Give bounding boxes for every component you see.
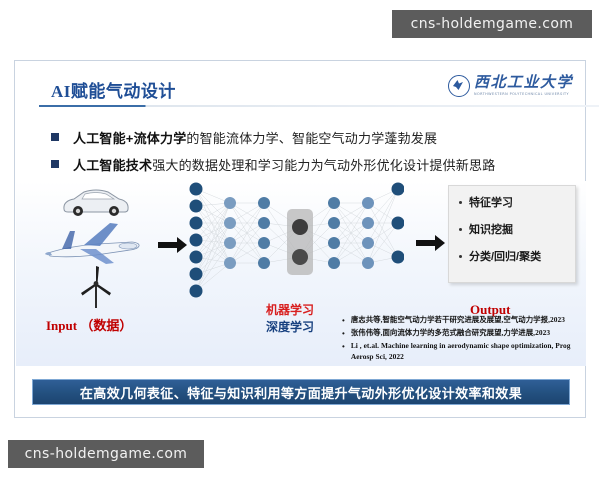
bullet-dot-icon: • (342, 341, 345, 352)
reference-text: 张伟伟等,面向流体力学的多范式融合研究展望,力学进展,2023 (351, 328, 550, 339)
watermark-bottom: cns-holdemgame.com (8, 440, 204, 468)
output-card: 特征学习 知识挖掘 分类/回归/聚类 (448, 185, 576, 283)
reference-item: • 张伟伟等,面向流体力学的多范式融合研究展望,力学进展,2023 (342, 328, 594, 339)
reference-item: • 唐志共等,智能空气动力学若干研究进展及展望,空气动力学报,2023 (342, 315, 594, 326)
bullet-dot-icon (459, 201, 462, 204)
bullet-item-1: 人工智能+流体力学的智能流体力学、智能空气动力学蓬勃发展 (51, 128, 437, 147)
university-logo: 西北工业大学 NORTHWESTERN POLYTECHNICAL UNIVER… (448, 75, 573, 97)
university-name-cn: 西北工业大学 (474, 76, 573, 91)
page-title: AI赋能气动设计 (51, 77, 176, 102)
slide-frame: AI赋能气动设计 西北工业大学 NORTHWESTERN POLYTECHNIC… (14, 60, 586, 418)
bullet-strong-1: 人工智能+流体力学 (73, 131, 186, 146)
airplane-icon (40, 219, 144, 271)
network-label-deep-learning: 深度学习 (266, 318, 314, 335)
conclusion-banner-text: 在高效几何表征、特征与知识利用等方面提升气动外形优化设计效率和效果 (80, 383, 522, 402)
wind-turbine-icon (76, 265, 116, 309)
neural-network-svg (184, 181, 404, 306)
bullet-rest-1: 的智能流体力学、智能空气动力学蓬勃发展 (186, 131, 437, 146)
title-underline (39, 105, 599, 107)
reference-list: • 唐志共等,智能空气动力学若干研究进展及展望,空气动力学报,2023 • 张伟… (342, 315, 594, 364)
bullet-dot-icon (459, 255, 462, 258)
bullet-item-2: 人工智能技术强大的数据处理和学习能力为气动外形优化设计提供新思路 (51, 155, 495, 174)
bullet-text-2: 人工智能技术强大的数据处理和学习能力为气动外形优化设计提供新思路 (73, 155, 495, 174)
bullet-square-icon (51, 133, 59, 141)
output-item-2: 知识挖掘 (459, 221, 575, 237)
arrow-network-to-output-icon (416, 234, 446, 252)
conclusion-banner: 在高效几何表征、特征与知识利用等方面提升气动外形优化设计效率和效果 (32, 379, 570, 405)
car-icon (58, 187, 132, 217)
reference-text: Li , et.al. Machine learning in aerodyna… (351, 341, 594, 362)
output-item-1: 特征学习 (459, 194, 575, 210)
university-logo-text: 西北工业大学 NORTHWESTERN POLYTECHNICAL UNIVER… (474, 76, 573, 96)
bullet-text-1: 人工智能+流体力学的智能流体力学、智能空气动力学蓬勃发展 (73, 128, 437, 147)
input-label: Input （数据） (46, 315, 132, 334)
input-icon-group: Input （数据） (38, 187, 150, 307)
output-item-label: 分类/回归/聚类 (469, 248, 541, 264)
bullet-strong-2: 人工智能技术 (73, 158, 152, 173)
university-name-en: NORTHWESTERN POLYTECHNICAL UNIVERSITY (474, 93, 573, 96)
bullet-square-icon (51, 160, 59, 168)
bullet-dot-icon (459, 228, 462, 231)
reference-item: • Li , et.al. Machine learning in aerody… (342, 341, 594, 362)
bullet-dot-icon: • (342, 328, 345, 339)
neural-network-diagram (184, 181, 404, 306)
reference-text: 唐志共等,智能空气动力学若干研究进展及展望,空气动力学报,2023 (351, 315, 565, 326)
slide-canvas: cns-holdemgame.com AI赋能气动设计 西北工业大学 NORTH… (0, 0, 600, 480)
output-item-3: 分类/回归/聚类 (459, 248, 575, 264)
page-title-text: AI赋能气动设计 (51, 77, 176, 102)
output-item-label: 知识挖掘 (469, 221, 513, 237)
university-seal-icon (448, 75, 470, 97)
bullet-dot-icon: • (342, 315, 345, 326)
watermark-top: cns-holdemgame.com (392, 10, 592, 38)
bullet-rest-2: 强大的数据处理和学习能力为气动外形优化设计提供新思路 (152, 158, 495, 173)
network-label-machine-learning: 机器学习 (266, 301, 314, 318)
output-item-label: 特征学习 (469, 194, 513, 210)
